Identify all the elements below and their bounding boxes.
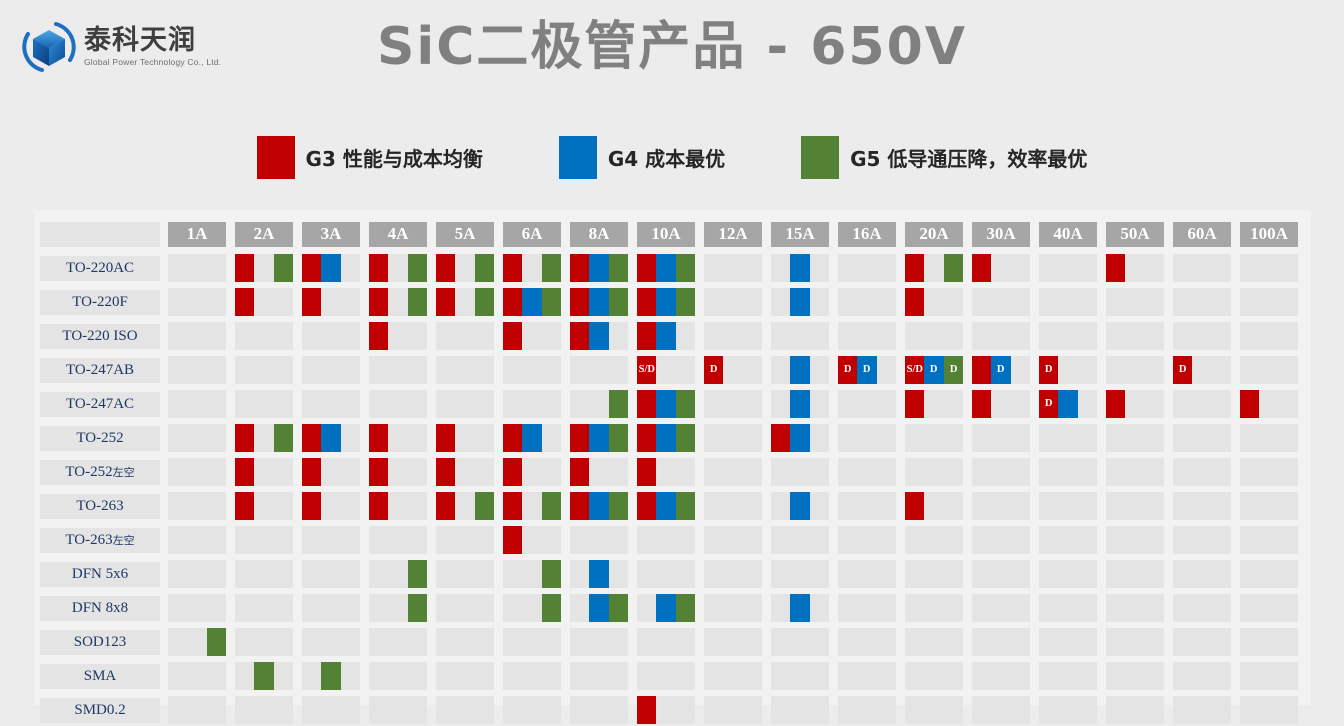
matrix-slot-g4[interactable]: [790, 288, 809, 316]
matrix-slot-g3[interactable]: [235, 424, 254, 452]
matrix-cell[interactable]: [1039, 696, 1097, 724]
matrix-cell[interactable]: [1240, 458, 1298, 486]
matrix-slot-g3[interactable]: [972, 254, 991, 282]
matrix-slot-g5[interactable]: [542, 288, 561, 316]
matrix-slot-g5[interactable]: [609, 594, 628, 622]
matrix-cell[interactable]: [436, 458, 494, 486]
matrix-cell[interactable]: [972, 458, 1030, 486]
matrix-slot-g5[interactable]: [321, 662, 340, 690]
matrix-slot-g4[interactable]: [321, 254, 340, 282]
matrix-cell[interactable]: [771, 322, 829, 350]
matrix-slot-g5[interactable]: [542, 492, 561, 520]
matrix-slot-g5[interactable]: [475, 288, 494, 316]
matrix-cell[interactable]: D: [704, 356, 762, 384]
matrix-slot-g3[interactable]: [235, 254, 254, 282]
matrix-cell[interactable]: [1106, 254, 1164, 282]
matrix-cell[interactable]: [369, 662, 427, 690]
matrix-cell[interactable]: D: [1039, 390, 1097, 418]
matrix-slot-g3[interactable]: [436, 288, 455, 316]
matrix-slot-g5[interactable]: [475, 254, 494, 282]
matrix-cell[interactable]: [503, 662, 561, 690]
matrix-slot-g3[interactable]: [369, 254, 388, 282]
matrix-cell[interactable]: [1173, 628, 1231, 656]
matrix-slot-g3[interactable]: [1240, 390, 1259, 418]
matrix-cell[interactable]: [1240, 560, 1298, 588]
matrix-slot-g5[interactable]: [609, 288, 628, 316]
matrix-cell[interactable]: [436, 288, 494, 316]
matrix-cell[interactable]: [235, 458, 293, 486]
matrix-cell[interactable]: [436, 390, 494, 418]
matrix-slot-g4[interactable]: D: [924, 356, 943, 384]
matrix-cell[interactable]: [235, 390, 293, 418]
matrix-cell[interactable]: DD: [838, 356, 896, 384]
matrix-cell[interactable]: [838, 390, 896, 418]
matrix-cell[interactable]: [235, 696, 293, 724]
matrix-cell[interactable]: [302, 390, 360, 418]
matrix-slot-g4[interactable]: [589, 424, 608, 452]
matrix-cell[interactable]: [838, 458, 896, 486]
matrix-cell[interactable]: [972, 322, 1030, 350]
matrix-cell[interactable]: [302, 322, 360, 350]
matrix-cell[interactable]: [570, 560, 628, 588]
matrix-cell[interactable]: [771, 458, 829, 486]
matrix-slot-g3[interactable]: [369, 458, 388, 486]
matrix-cell[interactable]: [637, 390, 695, 418]
matrix-slot-g3[interactable]: [503, 526, 522, 554]
matrix-cell[interactable]: [302, 628, 360, 656]
matrix-cell[interactable]: [771, 288, 829, 316]
matrix-cell[interactable]: [771, 526, 829, 554]
matrix-cell[interactable]: [570, 390, 628, 418]
matrix-cell[interactable]: [704, 458, 762, 486]
matrix-cell[interactable]: [637, 492, 695, 520]
matrix-slot-g5[interactable]: [944, 254, 963, 282]
matrix-slot-g3[interactable]: [436, 458, 455, 486]
matrix-cell[interactable]: [1039, 458, 1097, 486]
matrix-slot-g5[interactable]: [274, 424, 293, 452]
matrix-cell[interactable]: [436, 492, 494, 520]
matrix-slot-g3[interactable]: [637, 696, 656, 724]
matrix-cell[interactable]: [1039, 492, 1097, 520]
matrix-cell[interactable]: [302, 356, 360, 384]
matrix-slot-g5[interactable]: [408, 288, 427, 316]
matrix-cell[interactable]: [369, 288, 427, 316]
matrix-slot-g4[interactable]: [589, 288, 608, 316]
matrix-cell[interactable]: [1240, 356, 1298, 384]
matrix-cell[interactable]: [905, 628, 963, 656]
matrix-cell[interactable]: [168, 526, 226, 554]
matrix-cell[interactable]: [1173, 254, 1231, 282]
matrix-cell[interactable]: [637, 628, 695, 656]
matrix-slot-g5[interactable]: [609, 254, 628, 282]
matrix-slot-g3[interactable]: [503, 424, 522, 452]
matrix-slot-g4[interactable]: [790, 390, 809, 418]
matrix-slot-g5[interactable]: [542, 560, 561, 588]
matrix-slot-g3[interactable]: [637, 458, 656, 486]
matrix-cell[interactable]: [838, 322, 896, 350]
matrix-slot-g3[interactable]: [436, 424, 455, 452]
matrix-slot-g3[interactable]: [1106, 390, 1125, 418]
matrix-cell[interactable]: [972, 696, 1030, 724]
matrix-cell[interactable]: [704, 560, 762, 588]
matrix-cell[interactable]: [235, 560, 293, 588]
matrix-slot-g3[interactable]: [570, 424, 589, 452]
matrix-cell[interactable]: [1039, 254, 1097, 282]
matrix-cell[interactable]: [704, 288, 762, 316]
matrix-cell[interactable]: [503, 628, 561, 656]
matrix-cell[interactable]: [905, 322, 963, 350]
matrix-cell[interactable]: [704, 492, 762, 520]
matrix-cell[interactable]: [838, 628, 896, 656]
matrix-slot-g3[interactable]: [637, 492, 656, 520]
matrix-cell[interactable]: [436, 356, 494, 384]
matrix-slot-g3[interactable]: S/D: [637, 356, 656, 384]
matrix-slot-g3[interactable]: [302, 424, 321, 452]
matrix-cell[interactable]: [168, 628, 226, 656]
matrix-cell[interactable]: S/DDD: [905, 356, 963, 384]
matrix-cell[interactable]: [704, 424, 762, 452]
matrix-cell[interactable]: [1173, 560, 1231, 588]
matrix-cell[interactable]: [972, 288, 1030, 316]
matrix-cell[interactable]: [369, 424, 427, 452]
matrix-slot-g5[interactable]: D: [944, 356, 963, 384]
matrix-cell[interactable]: [168, 560, 226, 588]
matrix-cell[interactable]: [168, 662, 226, 690]
matrix-cell[interactable]: [436, 424, 494, 452]
matrix-cell[interactable]: [838, 594, 896, 622]
matrix-cell[interactable]: [1106, 288, 1164, 316]
matrix-slot-g3[interactable]: [905, 390, 924, 418]
matrix-slot-g5[interactable]: [609, 424, 628, 452]
matrix-cell[interactable]: [972, 254, 1030, 282]
matrix-cell[interactable]: [503, 322, 561, 350]
matrix-slot-g3[interactable]: D: [1173, 356, 1192, 384]
matrix-cell[interactable]: [972, 424, 1030, 452]
matrix-slot-g3[interactable]: [235, 492, 254, 520]
matrix-cell[interactable]: [369, 254, 427, 282]
matrix-slot-g3[interactable]: [905, 492, 924, 520]
matrix-slot-g4[interactable]: [656, 424, 675, 452]
matrix-cell[interactable]: [771, 696, 829, 724]
matrix-slot-g3[interactable]: D: [1039, 356, 1058, 384]
matrix-cell[interactable]: [771, 424, 829, 452]
matrix-cell[interactable]: [1240, 662, 1298, 690]
matrix-slot-g4[interactable]: [589, 492, 608, 520]
matrix-cell[interactable]: D: [1039, 356, 1097, 384]
matrix-cell[interactable]: [704, 662, 762, 690]
matrix-slot-g4[interactable]: [656, 390, 675, 418]
matrix-slot-g4[interactable]: [522, 424, 541, 452]
matrix-slot-g3[interactable]: [369, 424, 388, 452]
matrix-cell[interactable]: [436, 628, 494, 656]
matrix-cell[interactable]: [369, 594, 427, 622]
matrix-cell[interactable]: [905, 560, 963, 588]
matrix-cell[interactable]: [235, 628, 293, 656]
matrix-cell[interactable]: [1173, 526, 1231, 554]
matrix-slot-g5[interactable]: [408, 254, 427, 282]
matrix-slot-g4[interactable]: [321, 424, 340, 452]
matrix-slot-g4[interactable]: [790, 492, 809, 520]
matrix-cell[interactable]: [637, 458, 695, 486]
matrix-cell[interactable]: [771, 662, 829, 690]
matrix-slot-g3[interactable]: [570, 288, 589, 316]
matrix-cell[interactable]: [302, 424, 360, 452]
matrix-cell[interactable]: [1173, 288, 1231, 316]
matrix-slot-g3[interactable]: [570, 492, 589, 520]
matrix-cell[interactable]: [905, 696, 963, 724]
matrix-slot-g5[interactable]: [475, 492, 494, 520]
matrix-slot-g3[interactable]: [369, 492, 388, 520]
matrix-cell[interactable]: [168, 288, 226, 316]
matrix-slot-g3[interactable]: [235, 288, 254, 316]
matrix-cell[interactable]: [503, 560, 561, 588]
matrix-slot-g4[interactable]: [656, 288, 675, 316]
matrix-cell[interactable]: [838, 424, 896, 452]
matrix-slot-g3[interactable]: [503, 492, 522, 520]
matrix-cell[interactable]: [1039, 288, 1097, 316]
matrix-slot-g3[interactable]: [570, 322, 589, 350]
matrix-cell[interactable]: [1106, 526, 1164, 554]
matrix-slot-g3[interactable]: [503, 458, 522, 486]
matrix-cell[interactable]: [905, 390, 963, 418]
matrix-cell[interactable]: [1240, 594, 1298, 622]
matrix-slot-g3[interactable]: [302, 458, 321, 486]
matrix-cell[interactable]: [1039, 560, 1097, 588]
matrix-cell[interactable]: [637, 526, 695, 554]
matrix-cell[interactable]: [168, 492, 226, 520]
matrix-cell[interactable]: [570, 594, 628, 622]
matrix-slot-g5[interactable]: [274, 254, 293, 282]
matrix-slot-g4[interactable]: [656, 594, 675, 622]
matrix-cell[interactable]: [369, 390, 427, 418]
matrix-cell[interactable]: [838, 254, 896, 282]
matrix-cell[interactable]: [503, 390, 561, 418]
matrix-cell[interactable]: [704, 254, 762, 282]
matrix-slot-g3[interactable]: [302, 288, 321, 316]
matrix-cell[interactable]: [302, 696, 360, 724]
matrix-cell[interactable]: [905, 424, 963, 452]
matrix-cell[interactable]: [1106, 594, 1164, 622]
matrix-cell[interactable]: [369, 560, 427, 588]
matrix-slot-g5[interactable]: [207, 628, 226, 656]
matrix-cell[interactable]: [1039, 322, 1097, 350]
matrix-slot-g3[interactable]: [503, 322, 522, 350]
matrix-cell[interactable]: [704, 594, 762, 622]
matrix-slot-g3[interactable]: [369, 288, 388, 316]
matrix-cell[interactable]: [972, 390, 1030, 418]
matrix-cell[interactable]: [1240, 424, 1298, 452]
matrix-cell[interactable]: [369, 696, 427, 724]
matrix-cell[interactable]: [704, 322, 762, 350]
matrix-slot-g3[interactable]: D: [838, 356, 857, 384]
matrix-slot-g3[interactable]: [972, 356, 991, 384]
matrix-cell[interactable]: [771, 594, 829, 622]
matrix-slot-g4[interactable]: [790, 424, 809, 452]
matrix-cell[interactable]: [838, 288, 896, 316]
matrix-cell[interactable]: [1106, 696, 1164, 724]
matrix-slot-g5[interactable]: [676, 594, 695, 622]
matrix-cell[interactable]: [302, 288, 360, 316]
matrix-slot-g3[interactable]: D: [704, 356, 723, 384]
matrix-cell[interactable]: [905, 492, 963, 520]
matrix-cell[interactable]: [570, 458, 628, 486]
matrix-cell[interactable]: [1173, 424, 1231, 452]
matrix-cell[interactable]: [503, 526, 561, 554]
matrix-cell[interactable]: [503, 458, 561, 486]
matrix-cell[interactable]: [1106, 492, 1164, 520]
matrix-cell[interactable]: [1173, 492, 1231, 520]
matrix-cell[interactable]: [570, 492, 628, 520]
matrix-cell[interactable]: [235, 662, 293, 690]
matrix-slot-g4[interactable]: [656, 492, 675, 520]
matrix-cell[interactable]: [168, 322, 226, 350]
matrix-cell[interactable]: [235, 526, 293, 554]
matrix-cell[interactable]: [1240, 492, 1298, 520]
matrix-slot-g3[interactable]: [302, 492, 321, 520]
matrix-slot-g5[interactable]: [609, 390, 628, 418]
matrix-cell[interactable]: [503, 356, 561, 384]
matrix-slot-g3[interactable]: [235, 458, 254, 486]
matrix-cell[interactable]: [838, 492, 896, 520]
matrix-cell[interactable]: [972, 526, 1030, 554]
matrix-cell[interactable]: [235, 254, 293, 282]
matrix-slot-g5[interactable]: [542, 254, 561, 282]
matrix-cell[interactable]: [436, 594, 494, 622]
matrix-cell[interactable]: [637, 322, 695, 350]
matrix-cell[interactable]: [570, 254, 628, 282]
matrix-cell[interactable]: [905, 254, 963, 282]
matrix-slot-g5[interactable]: [676, 492, 695, 520]
matrix-cell[interactable]: [1173, 390, 1231, 418]
matrix-cell[interactable]: [570, 628, 628, 656]
matrix-cell[interactable]: [771, 356, 829, 384]
matrix-cell[interactable]: [168, 594, 226, 622]
matrix-slot-g4[interactable]: [790, 356, 809, 384]
matrix-cell[interactable]: [302, 458, 360, 486]
matrix-cell[interactable]: [570, 356, 628, 384]
matrix-cell[interactable]: [302, 254, 360, 282]
matrix-cell[interactable]: [570, 322, 628, 350]
matrix-cell[interactable]: [1039, 594, 1097, 622]
matrix-cell[interactable]: [570, 288, 628, 316]
matrix-cell[interactable]: [704, 628, 762, 656]
matrix-slot-g3[interactable]: [637, 288, 656, 316]
matrix-slot-g3[interactable]: [302, 254, 321, 282]
matrix-cell[interactable]: [369, 458, 427, 486]
matrix-slot-g5[interactable]: [254, 662, 273, 690]
matrix-slot-g4[interactable]: [1058, 390, 1077, 418]
matrix-cell[interactable]: [436, 322, 494, 350]
matrix-cell[interactable]: [1173, 696, 1231, 724]
matrix-slot-g4[interactable]: [589, 560, 608, 588]
matrix-cell[interactable]: [369, 526, 427, 554]
matrix-cell[interactable]: [905, 458, 963, 486]
matrix-cell[interactable]: [838, 696, 896, 724]
matrix-slot-g3[interactable]: [771, 424, 790, 452]
matrix-cell[interactable]: [1173, 458, 1231, 486]
matrix-cell[interactable]: [972, 560, 1030, 588]
matrix-cell[interactable]: [235, 288, 293, 316]
matrix-cell[interactable]: [369, 322, 427, 350]
matrix-slot-g4[interactable]: D: [857, 356, 876, 384]
matrix-cell[interactable]: [503, 594, 561, 622]
matrix-cell[interactable]: [1039, 662, 1097, 690]
matrix-cell[interactable]: [235, 594, 293, 622]
matrix-cell[interactable]: [570, 424, 628, 452]
matrix-cell[interactable]: [1106, 458, 1164, 486]
matrix-cell[interactable]: [503, 696, 561, 724]
matrix-slot-g3[interactable]: [905, 288, 924, 316]
matrix-cell[interactable]: [704, 696, 762, 724]
matrix-slot-g5[interactable]: [676, 424, 695, 452]
matrix-cell[interactable]: [235, 356, 293, 384]
matrix-cell[interactable]: [1106, 628, 1164, 656]
matrix-cell[interactable]: [436, 526, 494, 554]
matrix-slot-g4[interactable]: [656, 322, 675, 350]
matrix-cell[interactable]: D: [972, 356, 1030, 384]
matrix-cell[interactable]: [1106, 560, 1164, 588]
matrix-cell[interactable]: [235, 424, 293, 452]
matrix-cell[interactable]: [570, 662, 628, 690]
matrix-cell[interactable]: [570, 526, 628, 554]
matrix-slot-g4[interactable]: [790, 594, 809, 622]
matrix-cell[interactable]: [771, 492, 829, 520]
matrix-cell[interactable]: [369, 628, 427, 656]
matrix-slot-g3[interactable]: [436, 254, 455, 282]
matrix-cell[interactable]: [369, 356, 427, 384]
matrix-slot-g5[interactable]: [542, 594, 561, 622]
matrix-cell[interactable]: [1039, 628, 1097, 656]
matrix-cell[interactable]: [838, 662, 896, 690]
matrix-cell[interactable]: [1106, 424, 1164, 452]
matrix-cell[interactable]: [503, 424, 561, 452]
matrix-cell[interactable]: [369, 492, 427, 520]
matrix-cell[interactable]: [905, 288, 963, 316]
matrix-cell[interactable]: [972, 594, 1030, 622]
matrix-cell[interactable]: [168, 696, 226, 724]
matrix-slot-g5[interactable]: [676, 390, 695, 418]
matrix-cell[interactable]: [771, 254, 829, 282]
matrix-cell[interactable]: [235, 492, 293, 520]
matrix-cell[interactable]: [771, 560, 829, 588]
matrix-cell[interactable]: [972, 492, 1030, 520]
matrix-cell[interactable]: [1240, 390, 1298, 418]
matrix-cell[interactable]: S/D: [637, 356, 695, 384]
matrix-slot-g3[interactable]: [972, 390, 991, 418]
matrix-cell[interactable]: [838, 560, 896, 588]
matrix-cell[interactable]: [972, 628, 1030, 656]
matrix-slot-g5[interactable]: [408, 594, 427, 622]
matrix-slot-g3[interactable]: [570, 254, 589, 282]
matrix-cell[interactable]: [436, 696, 494, 724]
matrix-cell[interactable]: [1106, 662, 1164, 690]
matrix-cell[interactable]: [771, 628, 829, 656]
matrix-cell[interactable]: [1173, 594, 1231, 622]
matrix-cell[interactable]: [1039, 526, 1097, 554]
matrix-cell[interactable]: [436, 662, 494, 690]
matrix-cell[interactable]: D: [1173, 356, 1231, 384]
matrix-slot-g4[interactable]: [589, 322, 608, 350]
matrix-cell[interactable]: [168, 424, 226, 452]
matrix-slot-g4[interactable]: [790, 254, 809, 282]
matrix-cell[interactable]: [302, 560, 360, 588]
matrix-cell[interactable]: [637, 594, 695, 622]
matrix-cell[interactable]: [168, 254, 226, 282]
matrix-cell[interactable]: [637, 288, 695, 316]
matrix-cell[interactable]: [637, 254, 695, 282]
matrix-cell[interactable]: [570, 696, 628, 724]
matrix-slot-g3[interactable]: [436, 492, 455, 520]
